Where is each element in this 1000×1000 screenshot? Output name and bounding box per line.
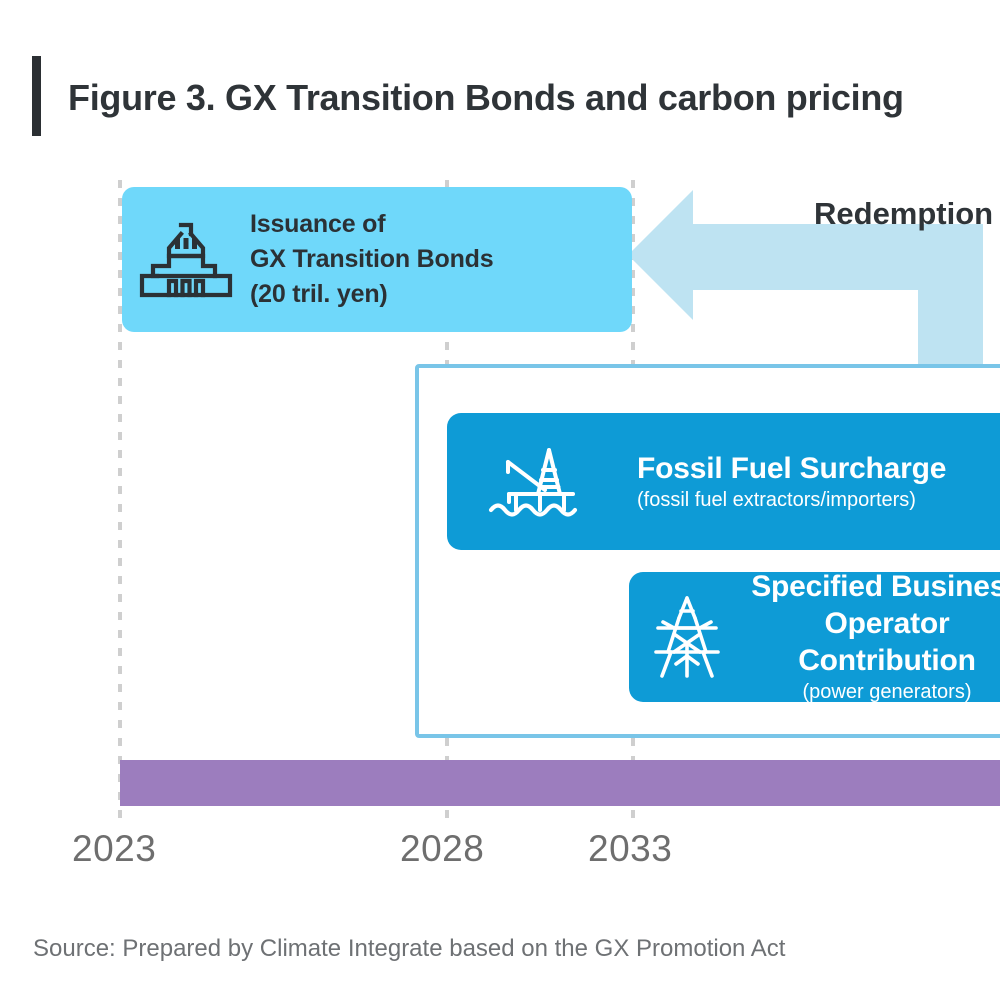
card-fossil-fuel-heading: Fossil Fuel Surcharge [637, 450, 1000, 487]
card-fossil-fuel-subtext: (fossil fuel extractors/importers) [637, 487, 1000, 514]
elbow-arrow-left-icon [628, 216, 1000, 364]
government-building-icon [122, 221, 250, 299]
title-accent-rule [32, 56, 41, 136]
offshore-oil-rig-icon [447, 442, 637, 522]
power-transmission-tower-icon [629, 594, 745, 680]
card-issuance-gx-transition-bonds[interactable]: Issuance of GX Transition Bonds (20 tril… [122, 187, 632, 332]
source-note: Source: Prepared by Climate Integrate ba… [33, 932, 785, 966]
axis-tick-2028: 2028 [400, 824, 484, 874]
card-specified-business-heading: Specified Business Operator Contribution [745, 568, 1000, 679]
axis-tick-2033: 2033 [588, 824, 672, 874]
card-fossil-fuel-surcharge[interactable]: Fossil Fuel Surcharge (fossil fuel extra… [447, 413, 1000, 550]
axis-tick-2023: 2023 [72, 824, 156, 874]
card-specified-business-operator-contribution[interactable]: Specified Business Operator Contribution… [629, 572, 1000, 702]
card-specified-business-subtext: (power generators) [745, 679, 1000, 706]
page-title: Figure 3. GX Transition Bonds and carbon… [68, 70, 904, 126]
carbon-pricing-timeline-bar [120, 760, 1000, 806]
redemption-label: Redemption [814, 192, 993, 236]
card-issuance-text: Issuance of GX Transition Bonds (20 tril… [250, 207, 493, 312]
figure-canvas: Figure 3. GX Transition Bonds and carbon… [0, 0, 1000, 1000]
